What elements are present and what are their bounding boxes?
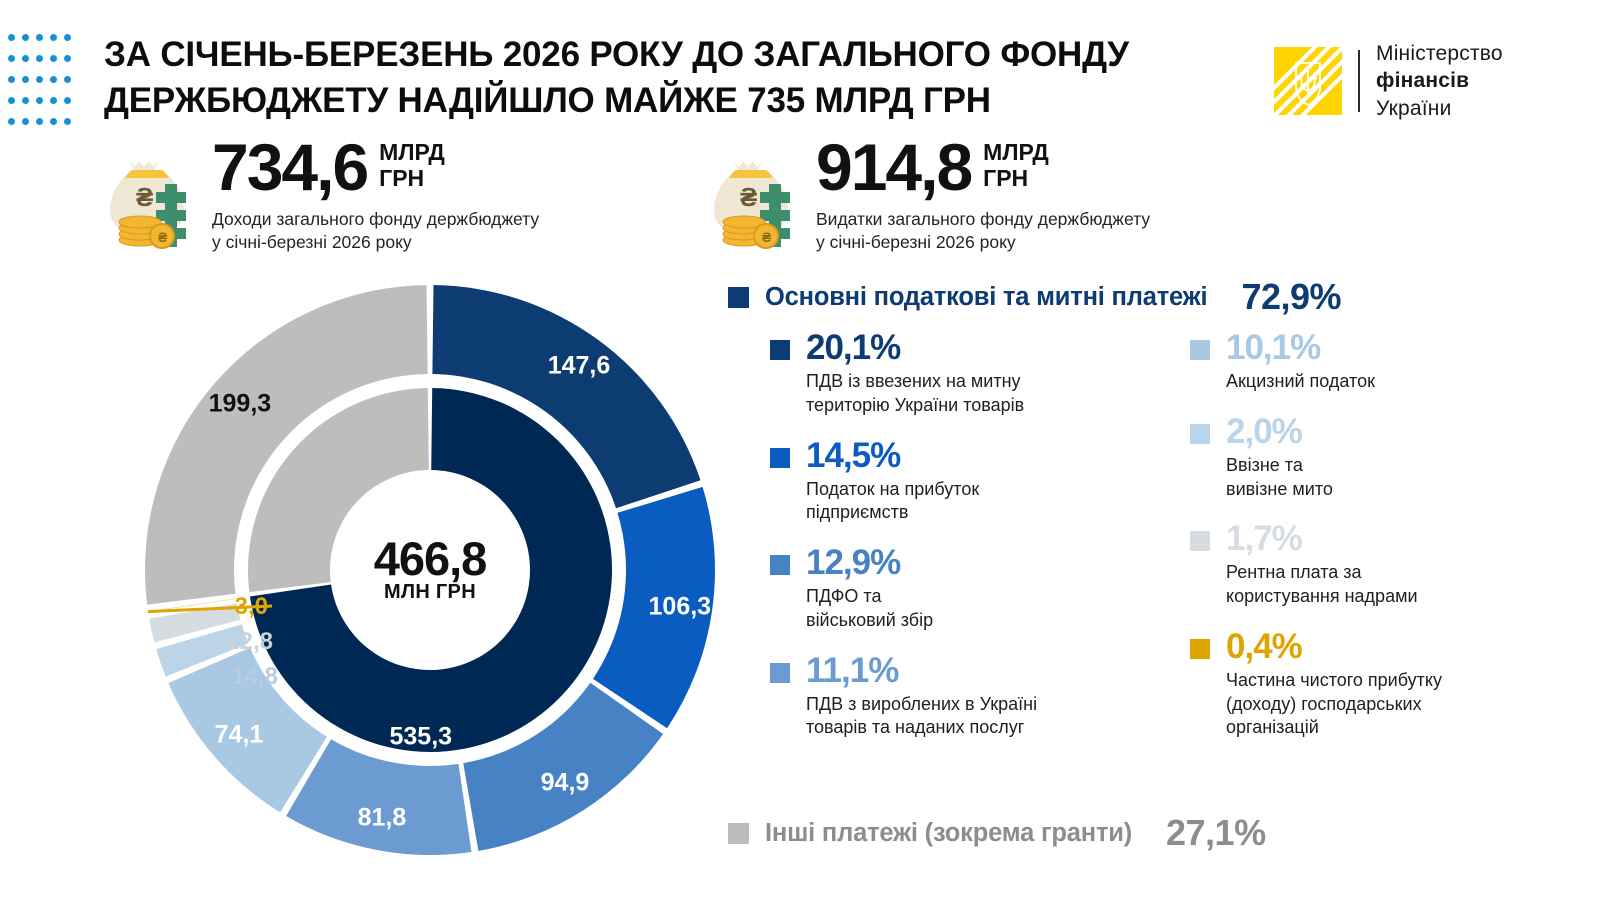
donut-segment-label: 12,8	[226, 628, 273, 656]
dot	[8, 34, 15, 41]
legend-item: 10,1%Акцизний податок	[1190, 330, 1590, 394]
money-bag-icon: ₴ ₴	[96, 144, 204, 252]
donut-segment-label: 3,0	[235, 593, 268, 621]
legend-swatch	[1190, 424, 1210, 444]
legend-swatch	[728, 287, 749, 308]
legend-header-main-taxes: Основні податкові та митні платежі 72,9%	[728, 276, 1341, 318]
legend-swatch	[728, 823, 749, 844]
ministry-of-finance-logo: Міністерство фінансів України	[1274, 40, 1503, 122]
logo-divider	[1358, 50, 1360, 112]
legend-item-percent: 10,1%	[1226, 330, 1375, 365]
legend-item-description: Ввізне та вивізне мито	[1226, 454, 1333, 502]
kpi-expense-description: Видатки загального фонду держбюджету у с…	[816, 208, 1150, 255]
donut-segment-label: 74,1	[215, 721, 264, 750]
legend-swatch	[1190, 531, 1210, 551]
donut-center-value: 466,8	[140, 531, 720, 586]
donut-segment-label: 106,3	[649, 592, 712, 621]
legend-item-percent: 14,5%	[806, 438, 979, 473]
dot	[64, 34, 71, 41]
logo-line-3: України	[1376, 95, 1503, 122]
legend-item: 1,7%Рентна плата за користування надрами	[1190, 521, 1590, 609]
kpi-expense-unit: МЛРД ГРН	[983, 140, 1049, 192]
dot	[36, 97, 43, 104]
donut-segment-label: 94,9	[541, 769, 590, 798]
legend-column-left: 20,1%ПДВ із ввезених на митну територію …	[770, 330, 1170, 760]
kpi-income: ₴ ₴ 734,6 МЛРД ГРН Доходи загального фон…	[96, 136, 539, 255]
legend-item-percent: 12,9%	[806, 545, 933, 580]
dot	[50, 97, 57, 104]
svg-text:₴: ₴	[762, 229, 772, 245]
logo-line-1: Міністерство	[1376, 40, 1503, 67]
dot	[8, 97, 15, 104]
legend-item-description: Податок на прибуток підприємств	[806, 478, 979, 526]
dot	[36, 55, 43, 62]
legend-item-description: Акцизний податок	[1226, 370, 1375, 394]
legend-item: 0,4%Частина чистого прибутку (доходу) го…	[1190, 629, 1590, 740]
legend-item-percent: 0,4%	[1226, 629, 1442, 664]
dot	[36, 118, 43, 125]
legend-swatch	[770, 555, 790, 575]
donut-segment-label: 81,8	[358, 803, 407, 832]
page-title: ЗА СІЧЕНЬ-БЕРЕЗЕНЬ 2026 РОКУ ДО ЗАГАЛЬНО…	[104, 32, 1244, 124]
svg-text:₴: ₴	[136, 182, 153, 212]
legend-swatch	[770, 448, 790, 468]
dot	[8, 55, 15, 62]
kpi-income-description: Доходи загального фонду держбюджету у сі…	[212, 208, 539, 255]
legend-item-description: ПДВ із ввезених на митну територію Украї…	[806, 370, 1024, 418]
legend-footer-label: Інші платежі (зокрема гранти)	[765, 819, 1132, 848]
legend-item: 11,1%ПДВ з вироблених в Україні товарів …	[770, 653, 1170, 741]
kpi-expense-value: 914,8	[816, 136, 971, 199]
legend-item: 14,5%Податок на прибуток підприємств	[770, 438, 1170, 526]
donut-segment-label: 14,8	[231, 663, 278, 691]
legend-item: 2,0%Ввізне та вивізне мито	[1190, 414, 1590, 502]
dot	[50, 55, 57, 62]
donut-segment-label: 199,3	[209, 389, 272, 418]
donut-chart: 466,8 МЛН ГРН 147,6106,394,981,874,1199,…	[140, 285, 720, 855]
legend-item-description: ПДВ з вироблених в Україні товарів та на…	[806, 693, 1037, 741]
donut-segment-label: 147,6	[548, 352, 611, 381]
kpi-income-value: 734,6	[212, 136, 367, 199]
dot	[22, 97, 29, 104]
dot	[22, 34, 29, 41]
money-bag-icon: ₴ ₴	[700, 144, 808, 252]
trident-emblem-icon	[1274, 47, 1342, 115]
svg-text:₴: ₴	[740, 182, 757, 212]
dot	[50, 76, 57, 83]
dot	[64, 76, 71, 83]
logo-wordmark: Міністерство фінансів України	[1376, 40, 1503, 122]
dot	[22, 76, 29, 83]
legend-item-description: ПДФО та військовий збір	[806, 585, 933, 633]
dot	[22, 55, 29, 62]
legend-swatch	[770, 663, 790, 683]
legend-item-description: Частина чистого прибутку (доходу) господ…	[1226, 669, 1442, 740]
legend-item-description: Рентна плата за користування надрами	[1226, 561, 1418, 609]
dot	[50, 34, 57, 41]
donut-segment-label: 535,3	[389, 722, 452, 751]
dot	[64, 97, 71, 104]
legend-header-label: Основні податкові та митні платежі	[765, 283, 1207, 312]
legend-item-percent: 2,0%	[1226, 414, 1333, 449]
dot	[36, 34, 43, 41]
legend-swatch	[1190, 340, 1210, 360]
legend-item: 12,9%ПДФО та військовий збір	[770, 545, 1170, 633]
legend-item-percent: 11,1%	[806, 653, 1037, 688]
legend-item: 20,1%ПДВ із ввезених на митну територію …	[770, 330, 1170, 418]
legend-swatch	[1190, 639, 1210, 659]
kpi-expense: ₴ ₴ 914,8 МЛРД ГРН Видатки загального фо…	[700, 136, 1150, 255]
legend-item-percent: 1,7%	[1226, 521, 1418, 556]
dot	[64, 55, 71, 62]
dot	[36, 76, 43, 83]
donut-center-unit: МЛН ГРН	[140, 581, 720, 604]
dot	[50, 118, 57, 125]
legend-column-right: 10,1%Акцизний податок2,0%Ввізне та вивіз…	[1190, 330, 1590, 760]
svg-text:₴: ₴	[158, 229, 168, 245]
legend-swatch	[770, 340, 790, 360]
legend-footer-other-payments: Інші платежі (зокрема гранти) 27,1%	[728, 812, 1266, 854]
logo-line-2: фінансів	[1376, 67, 1503, 94]
dot	[64, 118, 71, 125]
legend-footer-percent: 27,1%	[1166, 812, 1266, 854]
dot	[22, 118, 29, 125]
dot	[8, 76, 15, 83]
dot-pattern-decoration	[8, 34, 72, 126]
kpi-income-unit: МЛРД ГРН	[379, 140, 445, 192]
legend-item-percent: 20,1%	[806, 330, 1024, 365]
legend-header-percent: 72,9%	[1241, 276, 1341, 318]
dot	[8, 118, 15, 125]
